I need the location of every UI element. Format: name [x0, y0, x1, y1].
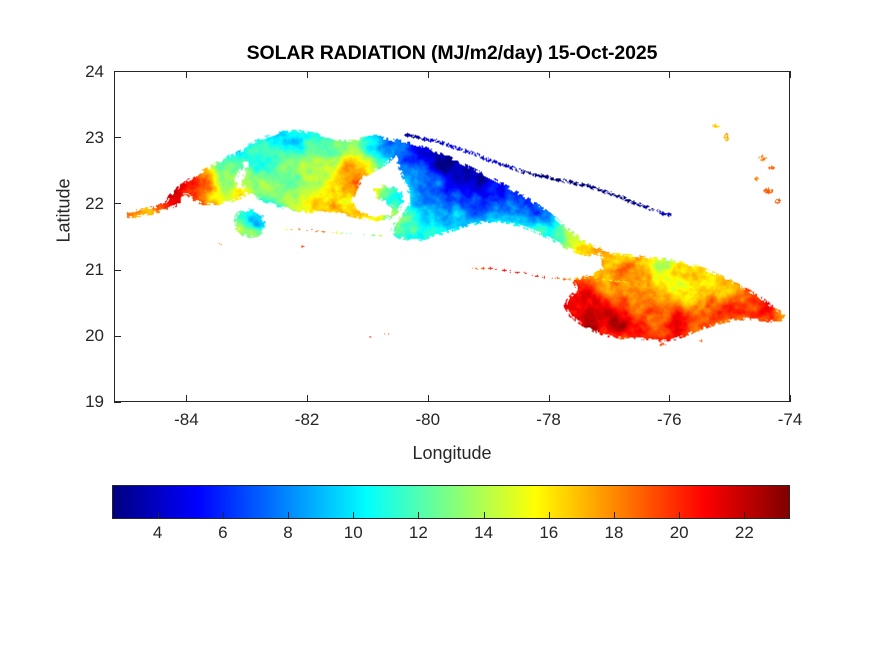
colorbar-label-6: 6 [193, 523, 253, 543]
xtick-label--76: -76 [629, 410, 709, 430]
x-axis-label: Longitude [114, 443, 790, 464]
colorbar-label-22: 22 [714, 523, 774, 543]
colorbar-tick-8 [288, 512, 289, 519]
colorbar-label-20: 20 [649, 523, 709, 543]
xtick--80 [428, 395, 429, 402]
xtick-top--76 [669, 71, 670, 78]
ytick-21 [114, 270, 121, 271]
xtick-label--80: -80 [388, 410, 468, 430]
xtick-label--84: -84 [146, 410, 226, 430]
colorbar-label-18: 18 [584, 523, 644, 543]
colorbar-tick-16 [549, 512, 550, 519]
ytick-20 [114, 336, 121, 337]
xtick--84 [186, 395, 187, 402]
colorbar-label-16: 16 [519, 523, 579, 543]
xtick--76 [669, 395, 670, 402]
solar-radiation-heatmap [115, 72, 789, 401]
ytick-label-19: 19 [44, 392, 104, 412]
colorbar-tick-12 [418, 512, 419, 519]
colorbar-tick-14 [484, 512, 485, 519]
colorbar-tick-20 [679, 512, 680, 519]
y-axis-label: Latitude [54, 141, 75, 281]
xtick-label--82: -82 [267, 410, 347, 430]
ytick-label-20: 20 [44, 326, 104, 346]
page-title: SOLAR RADIATION (MJ/m2/day) 15-Oct-2025 [114, 42, 790, 65]
xtick--82 [307, 395, 308, 402]
colorbar[interactable] [112, 485, 790, 519]
xtick-label--78: -78 [509, 410, 589, 430]
xtick-top--80 [428, 71, 429, 78]
ytick-label-24: 24 [44, 62, 104, 82]
xtick-label--74: -74 [750, 410, 830, 430]
colorbar-label-12: 12 [388, 523, 448, 543]
ytick-19 [114, 402, 121, 403]
ytick-22 [114, 203, 121, 204]
colorbar-label-4: 4 [128, 523, 188, 543]
colorbar-label-8: 8 [258, 523, 318, 543]
xtick-top--84 [186, 71, 187, 78]
xtick--74 [790, 395, 791, 402]
map-axes[interactable] [114, 71, 790, 402]
colorbar-tick-6 [223, 512, 224, 519]
colorbar-tick-22 [744, 512, 745, 519]
ytick-24 [114, 71, 121, 72]
xtick-top--78 [549, 71, 550, 78]
colorbar-gradient [112, 485, 790, 519]
figure-canvas: SOLAR RADIATION (MJ/m2/day) 15-Oct-2025 … [0, 0, 875, 656]
xtick--78 [549, 395, 550, 402]
colorbar-tick-4 [158, 512, 159, 519]
xtick-top--82 [307, 71, 308, 78]
colorbar-label-14: 14 [454, 523, 514, 543]
colorbar-label-10: 10 [323, 523, 383, 543]
colorbar-tick-10 [353, 512, 354, 519]
xtick-top--74 [790, 71, 791, 78]
colorbar-tick-18 [614, 512, 615, 519]
ytick-23 [114, 137, 121, 138]
